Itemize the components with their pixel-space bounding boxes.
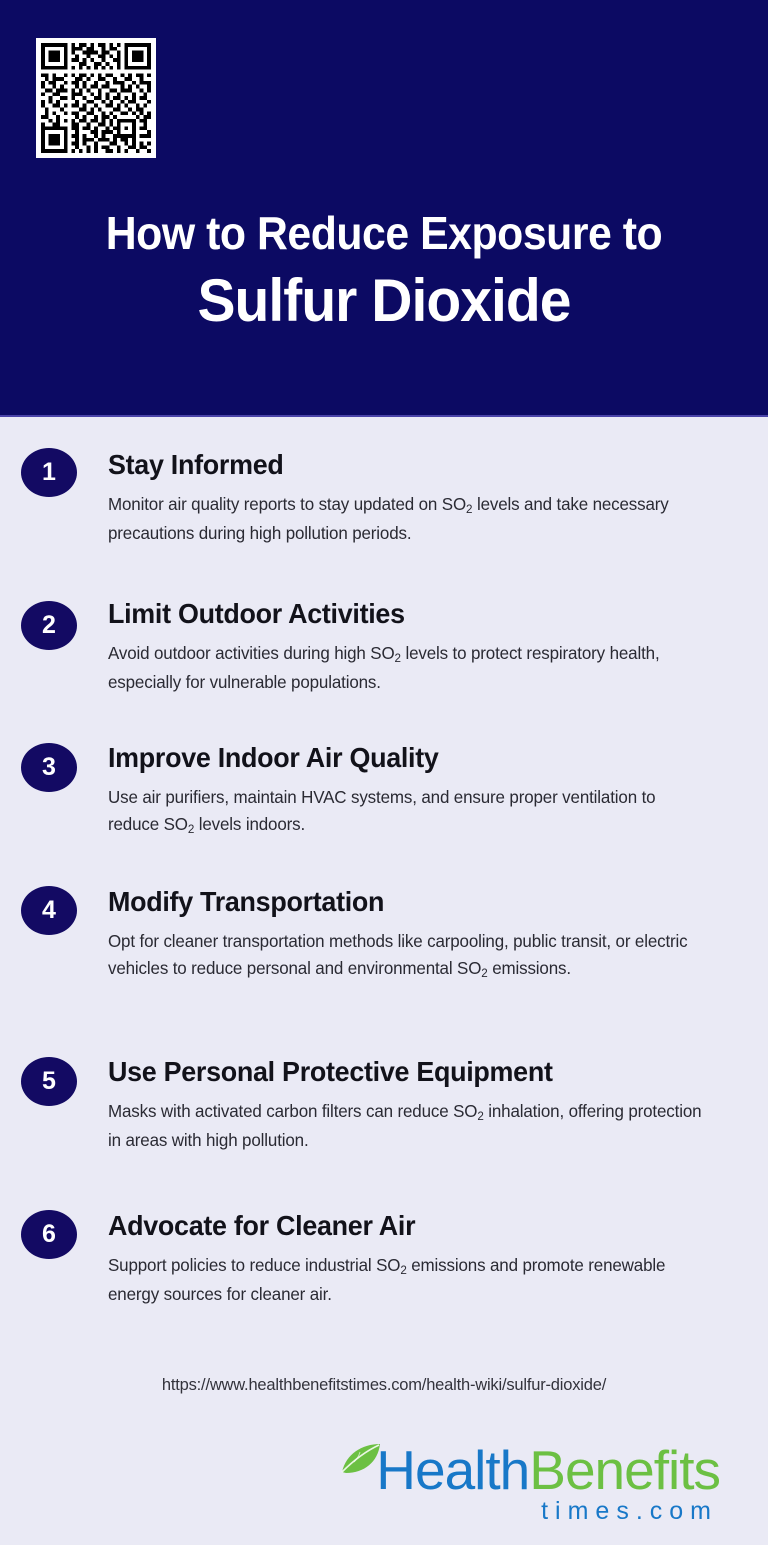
step-content: Advocate for Cleaner Air Support policie… <box>108 1209 768 1308</box>
logo-health-text: Health <box>376 1439 529 1501</box>
step-content: Modify Transportation Opt for cleaner tr… <box>108 885 768 984</box>
subscript-2: 2 <box>188 822 194 836</box>
title-line-1: How to Reduce Exposure to <box>27 205 741 261</box>
desc-part-1: Opt for cleaner transportation methods l… <box>108 931 688 978</box>
list-item: 2 Limit Outdoor Activities Avoid outdoor… <box>0 569 768 714</box>
desc-part-1: Avoid outdoor activities during high SO <box>108 643 395 663</box>
step-number-badge: 1 <box>21 448 77 497</box>
logo-benefits-text: Benefits <box>529 1439 720 1501</box>
subscript-2: 2 <box>477 1109 483 1123</box>
desc-part-1: Masks with activated carbon filters can … <box>108 1101 477 1121</box>
step-number-badge: 5 <box>21 1057 77 1106</box>
source-url[interactable]: https://www.healthbenefitstimes.com/heal… <box>12 1373 757 1397</box>
desc-part-1: Support policies to reduce industrial SO <box>108 1255 400 1275</box>
step-title: Advocate for Cleaner Air <box>108 1209 696 1243</box>
desc-part-1: Monitor air quality reports to stay upda… <box>108 494 466 514</box>
step-content: Improve Indoor Air Quality Use air purif… <box>108 741 768 840</box>
step-number-badge: 2 <box>21 601 77 650</box>
step-content: Use Personal Protective Equipment Masks … <box>108 1055 768 1154</box>
desc-part-2: emissions. <box>488 958 571 978</box>
subscript-2: 2 <box>481 966 487 980</box>
step-description: Avoid outdoor activities during high SO2… <box>108 640 702 696</box>
subscript-2: 2 <box>400 1263 406 1277</box>
leaf-icon <box>340 1442 382 1476</box>
step-number-badge: 4 <box>21 886 77 935</box>
qr-code[interactable] <box>36 38 156 158</box>
step-description: Monitor air quality reports to stay upda… <box>108 491 702 547</box>
step-content: Stay Informed Monitor air quality report… <box>108 448 768 547</box>
step-description: Use air purifiers, maintain HVAC systems… <box>108 784 702 840</box>
step-number-badge: 3 <box>21 743 77 792</box>
steps-list: 1 Stay Informed Monitor air quality repo… <box>0 417 768 1301</box>
list-item: 4 Modify Transportation Opt for cleaner … <box>0 857 768 1029</box>
logo-wordmark: HealthBenefits <box>330 1440 720 1500</box>
header-banner: How to Reduce Exposure to Sulfur Dioxide <box>0 0 768 417</box>
step-description: Masks with activated carbon filters can … <box>108 1098 702 1154</box>
step-title: Stay Informed <box>108 448 696 482</box>
desc-part-2: levels indoors. <box>194 814 305 834</box>
qr-code-icon <box>41 43 151 153</box>
step-title: Limit Outdoor Activities <box>108 597 696 631</box>
subscript-2: 2 <box>395 651 401 665</box>
list-item: 1 Stay Informed Monitor air quality repo… <box>0 417 768 569</box>
list-item: 6 Advocate for Cleaner Air Support polic… <box>0 1181 768 1301</box>
step-number-badge: 6 <box>21 1210 77 1259</box>
step-title: Use Personal Protective Equipment <box>108 1055 696 1089</box>
page-title: How to Reduce Exposure to Sulfur Dioxide <box>0 205 768 337</box>
step-title: Improve Indoor Air Quality <box>108 741 696 775</box>
subscript-2: 2 <box>466 502 472 516</box>
site-logo[interactable]: HealthBenefits times.com <box>330 1440 720 1535</box>
list-item: 3 Improve Indoor Air Quality Use air pur… <box>0 714 768 857</box>
title-line-2: Sulfur Dioxide <box>19 265 749 337</box>
step-content: Limit Outdoor Activities Avoid outdoor a… <box>108 597 768 696</box>
step-title: Modify Transportation <box>108 885 696 919</box>
step-description: Support policies to reduce industrial SO… <box>108 1252 702 1308</box>
step-description: Opt for cleaner transportation methods l… <box>108 928 702 984</box>
list-item: 5 Use Personal Protective Equipment Mask… <box>0 1029 768 1181</box>
